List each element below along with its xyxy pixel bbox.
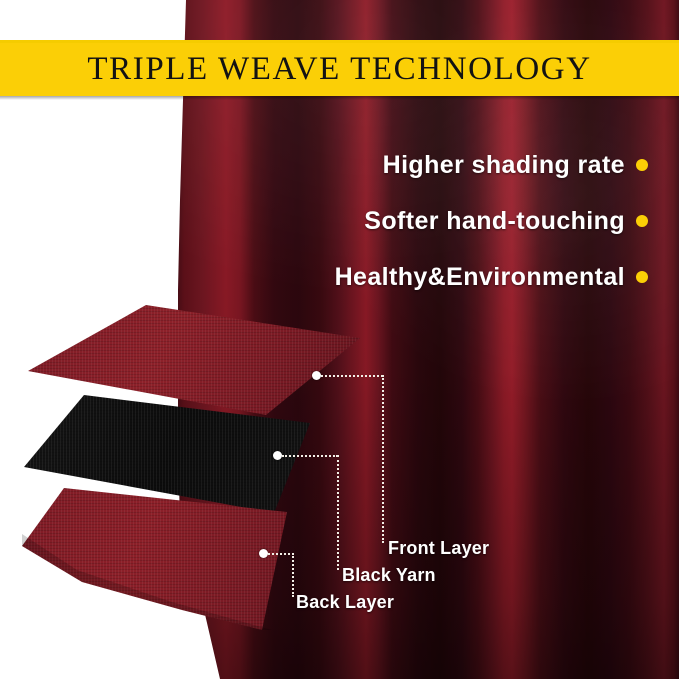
front-layer-leader-vertical <box>382 375 384 543</box>
back-layer-leader-dot <box>259 549 268 558</box>
black-yarn-leader-vertical <box>337 455 339 570</box>
front-layer-caption: Front Layer <box>388 538 489 559</box>
back-layer-leader-horizontal <box>268 553 294 555</box>
front-layer-leader-horizontal <box>321 375 383 377</box>
back-layer-leader-vertical <box>292 553 294 597</box>
black-yarn-leader-horizontal <box>282 455 338 457</box>
product-feature-image: TRIPLE WEAVE TECHNOLOGY Higher shading r… <box>0 0 679 679</box>
black-yarn-caption: Black Yarn <box>342 565 436 586</box>
fabric-layer-diagram: Front Layer Black Yarn Back Layer <box>0 0 679 679</box>
front-layer-sheet <box>28 305 360 415</box>
black-yarn-leader-dot <box>273 451 282 460</box>
weave-texture <box>28 305 360 415</box>
back-layer-caption: Back Layer <box>296 592 394 613</box>
front-layer-leader-dot <box>312 371 321 380</box>
